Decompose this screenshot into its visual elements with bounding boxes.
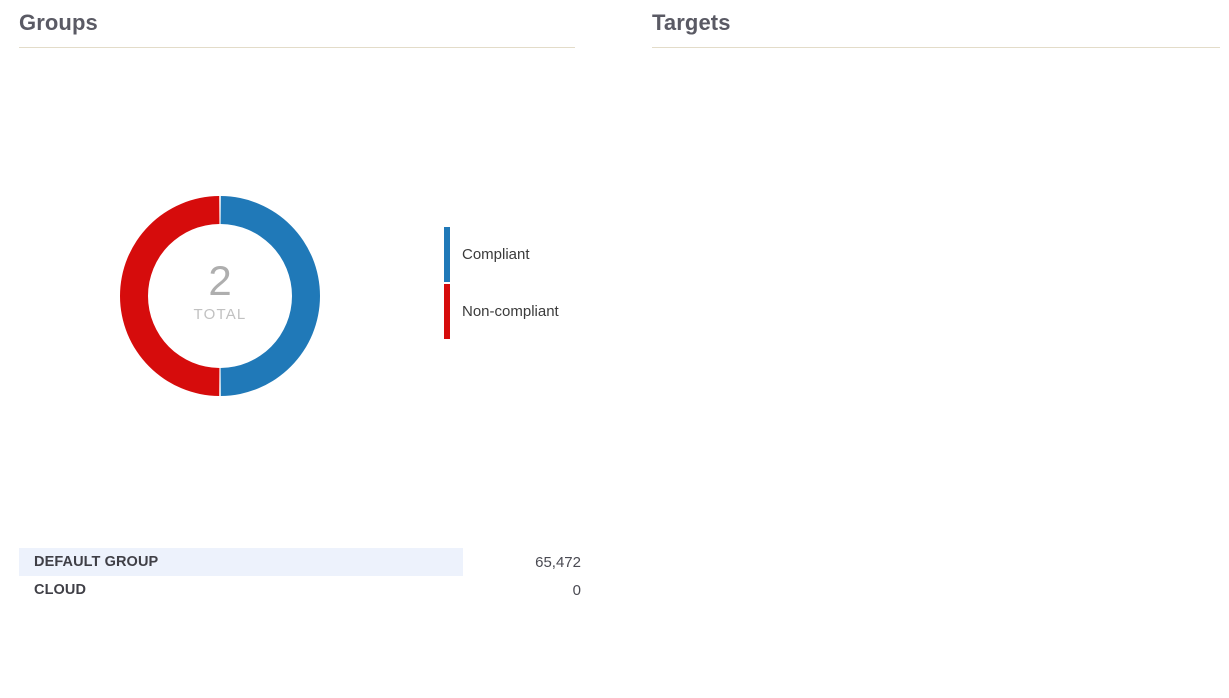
targets-panel-divider [652, 47, 1220, 48]
list-item-name: CLOUD [19, 582, 86, 598]
groups-panel: Groups 2 TOTAL CompliantNon-compliant DE… [0, 0, 614, 698]
legend-swatch-icon [444, 227, 450, 282]
legend-item-non-compliant[interactable]: Non-compliant [444, 283, 559, 340]
groups-donut-chart: 2 TOTAL [104, 140, 336, 452]
legend-swatch-icon [444, 284, 450, 339]
dashboard-root: Groups 2 TOTAL CompliantNon-compliant DE… [0, 0, 1229, 698]
list-item-value: 0 [573, 582, 581, 599]
groups-donut-svg [104, 140, 336, 452]
groups-list: DEFAULT GROUP65,472CLOUD0 [19, 548, 581, 604]
legend-item-compliant[interactable]: Compliant [444, 226, 559, 283]
targets-panel: Targets 5 TOTAL CompliantNot ScannedNon-… [614, 0, 1229, 698]
groups-panel-title: Groups [19, 10, 98, 36]
donut-slice-non-compliant[interactable] [120, 196, 219, 396]
groups-legend: CompliantNon-compliant [444, 226, 559, 340]
list-item-value: 65,472 [535, 554, 581, 571]
legend-item-label: Non-compliant [462, 303, 559, 320]
groups-panel-divider [19, 47, 575, 48]
legend-item-label: Compliant [462, 246, 530, 263]
list-item-name: DEFAULT GROUP [19, 554, 158, 570]
list-item[interactable]: CLOUD0 [19, 576, 581, 604]
list-item[interactable]: DEFAULT GROUP65,472 [19, 548, 581, 576]
targets-panel-title: Targets [652, 10, 731, 36]
donut-slice-compliant[interactable] [221, 196, 320, 396]
